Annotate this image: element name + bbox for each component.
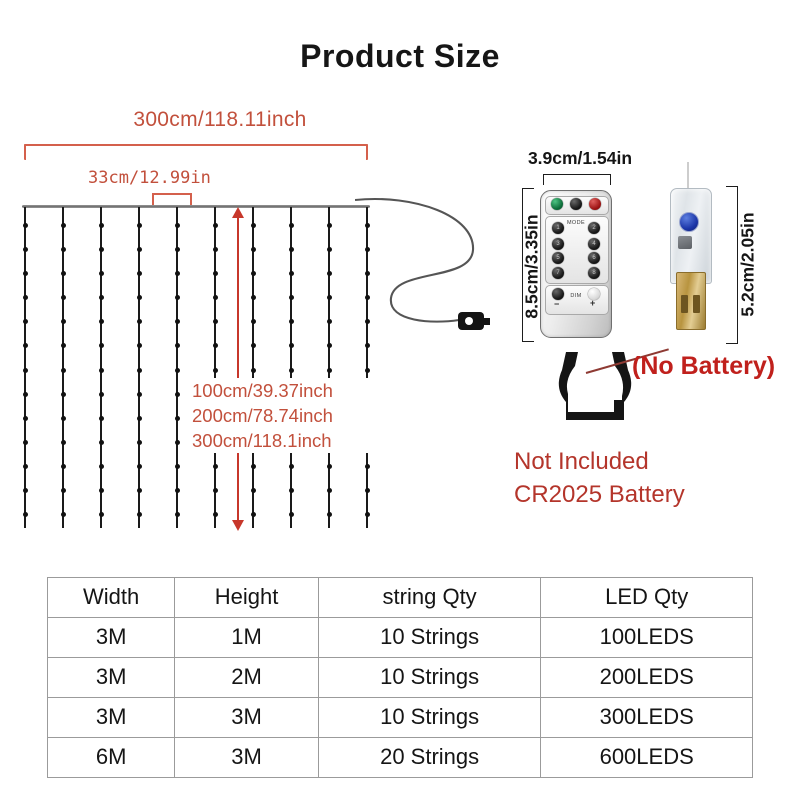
table-cell-width: 3M (48, 698, 175, 738)
led-dot (327, 512, 332, 517)
remote-minus-label: − (554, 299, 559, 309)
remote-on-button[interactable] (551, 198, 563, 210)
curtain-height-label-3: 300cm/118.1inch (192, 428, 402, 453)
led-dot (251, 368, 256, 373)
arrow-head-down-icon (232, 520, 244, 531)
led-dot (175, 464, 180, 469)
led-dot (289, 295, 294, 300)
led-dot (99, 440, 104, 445)
table-cell-width: 3M (48, 618, 175, 658)
table-cell-led-qty: 100LEDS (541, 618, 753, 658)
not-included-line-1: Not Included (514, 445, 685, 478)
led-dot (23, 247, 28, 252)
led-dot (23, 343, 28, 348)
led-dot (327, 488, 332, 493)
remote-width-bracket (543, 174, 611, 185)
table-cell-height: 3M (175, 738, 319, 778)
usb-plug (676, 272, 706, 330)
led-dot (137, 247, 142, 252)
led-dot (137, 295, 142, 300)
led-dot (137, 512, 142, 517)
usb-height-label: 5.2cm/2.05in (738, 185, 759, 345)
led-dot (213, 247, 218, 252)
table-cell-string-qty: 10 Strings (318, 658, 540, 698)
curtain-spacing-label: 33cm/12.99in (88, 168, 211, 188)
led-dot (175, 223, 180, 228)
table-cell-string-qty: 20 Strings (318, 738, 540, 778)
led-dot (327, 295, 332, 300)
led-dot (137, 271, 142, 276)
usb-wire (687, 162, 689, 188)
led-dot (61, 440, 66, 445)
curtain-top-wire (22, 205, 370, 208)
led-dot (175, 488, 180, 493)
table-row: 3M2M10 Strings200LEDS (48, 658, 753, 698)
table-row: 6M3M20 Strings600LEDS (48, 738, 753, 778)
led-dot (23, 512, 28, 517)
led-dot (289, 512, 294, 517)
led-dot (327, 368, 332, 373)
led-dot (23, 440, 28, 445)
led-dot (175, 368, 180, 373)
usb-connector (668, 186, 712, 336)
curtain-height-arrow (237, 208, 240, 530)
led-dot (327, 319, 332, 324)
led-dot (61, 512, 66, 517)
led-dot (289, 271, 294, 276)
led-dot (99, 488, 104, 493)
led-dot (61, 464, 66, 469)
table-cell-led-qty: 200LEDS (541, 658, 753, 698)
table-header-height: Height (175, 578, 319, 618)
table-header-string-qty: string Qty (318, 578, 540, 618)
led-dot (175, 271, 180, 276)
led-dot (23, 295, 28, 300)
curtain-height-label-1: 100cm/39.37inch (192, 378, 402, 403)
led-dot (289, 319, 294, 324)
led-dot (137, 392, 142, 397)
table-body: 3M1M10 Strings100LEDS3M2M10 Strings200LE… (48, 618, 753, 778)
led-dot (99, 319, 104, 324)
table-cell-width: 6M (48, 738, 175, 778)
led-dot (289, 343, 294, 348)
led-dot (175, 392, 180, 397)
led-dot (23, 368, 28, 373)
led-dot (61, 223, 66, 228)
remote-button-8-label: 8 (588, 267, 600, 279)
led-dot (61, 392, 66, 397)
remote-width-label: 3.9cm/1.54in (505, 148, 655, 169)
led-dot (251, 464, 256, 469)
led-dot (213, 271, 218, 276)
product-size-infographic: Product Size 300cm/118.11inch 33cm/12.99… (0, 0, 800, 800)
led-dot (289, 368, 294, 373)
remote-control[interactable]: MODE 1 2 3 4 5 6 7 8 DIM − + (540, 190, 612, 338)
led-dot (61, 416, 66, 421)
led-dot (365, 512, 370, 517)
led-dot (137, 223, 142, 228)
table-header-led-qty: LED Qty (541, 578, 753, 618)
led-dot (251, 319, 256, 324)
remote-button-3-label: 3 (552, 238, 564, 250)
led-dot (251, 223, 256, 228)
led-dot (137, 319, 142, 324)
led-dot (99, 368, 104, 373)
led-dot (327, 464, 332, 469)
remote-button-5-label: 5 (552, 252, 564, 264)
connector-tail (481, 318, 490, 325)
led-dot (23, 223, 28, 228)
led-dot (289, 464, 294, 469)
table-cell-height: 1M (175, 618, 319, 658)
led-dot (251, 271, 256, 276)
table-cell-led-qty: 300LEDS (541, 698, 753, 738)
usb-button-icon[interactable] (679, 212, 699, 232)
remote-button-2-label: 2 (588, 222, 600, 234)
led-dot (213, 464, 218, 469)
usb-height-bracket (726, 186, 738, 344)
led-dot (175, 319, 180, 324)
table-cell-width: 3M (48, 658, 175, 698)
table-cell-string-qty: 10 Strings (318, 698, 540, 738)
led-dot (99, 464, 104, 469)
led-dot (137, 440, 142, 445)
led-dot (175, 343, 180, 348)
battery-not-included-text: Not Included CR2025 Battery (514, 445, 685, 511)
led-dot (99, 512, 104, 517)
curtain-height-label-2: 200cm/78.74inch (192, 403, 402, 428)
led-dot (251, 247, 256, 252)
led-dot (61, 271, 66, 276)
led-dot (365, 488, 370, 493)
led-dot (175, 440, 180, 445)
not-included-line-2: CR2025 Battery (514, 478, 685, 511)
led-dot (99, 392, 104, 397)
led-dot (213, 368, 218, 373)
led-dot (61, 319, 66, 324)
remote-button-6-label: 6 (588, 252, 600, 264)
led-dot (175, 295, 180, 300)
led-dot (61, 368, 66, 373)
led-dot (99, 295, 104, 300)
led-dot (289, 488, 294, 493)
remote-plus-label: + (590, 298, 595, 308)
usb-chip (678, 236, 692, 249)
table-header-row: Width Height string Qty LED Qty (48, 578, 753, 618)
led-dot (175, 416, 180, 421)
led-dot (175, 512, 180, 517)
table-cell-height: 2M (175, 658, 319, 698)
remote-button-4-label: 4 (588, 238, 600, 250)
led-dot (23, 416, 28, 421)
led-dot (61, 295, 66, 300)
led-dot (23, 319, 28, 324)
led-dot (327, 343, 332, 348)
led-dot (137, 368, 142, 373)
led-dot (61, 247, 66, 252)
led-dot (213, 512, 218, 517)
led-dot (327, 247, 332, 252)
remote-button-7-label: 7 (552, 267, 564, 279)
table-row: 3M1M10 Strings100LEDS (48, 618, 753, 658)
remote-off-button[interactable] (589, 198, 601, 210)
led-dot (213, 223, 218, 228)
led-dot (99, 223, 104, 228)
led-dot (99, 416, 104, 421)
led-dot (213, 319, 218, 324)
table-cell-height: 3M (175, 698, 319, 738)
led-dot (175, 247, 180, 252)
led-dot (365, 464, 370, 469)
led-dot (23, 488, 28, 493)
table-header-width: Width (48, 578, 175, 618)
spec-table-wrapper: Width Height string Qty LED Qty 3M1M10 S… (47, 577, 753, 778)
led-dot (137, 343, 142, 348)
led-dot (251, 295, 256, 300)
led-dot (327, 271, 332, 276)
led-dot (61, 343, 66, 348)
led-dot (99, 247, 104, 252)
curtain-light-diagram (22, 205, 370, 530)
table-cell-string-qty: 10 Strings (318, 618, 540, 658)
curtain-width-bracket (24, 144, 368, 160)
led-dot (251, 488, 256, 493)
curtain-height-labels: 100cm/39.37inch 200cm/78.74inch 300cm/11… (192, 378, 402, 453)
no-battery-label: (No Battery) (632, 352, 775, 381)
led-dot (137, 416, 142, 421)
led-dot (327, 223, 332, 228)
led-dot (365, 368, 370, 373)
led-dot (289, 223, 294, 228)
remote-button-1-label: 1 (552, 222, 564, 234)
led-dot (213, 343, 218, 348)
spec-table: Width Height string Qty LED Qty 3M1M10 S… (47, 577, 753, 778)
led-dot (289, 247, 294, 252)
led-dot (251, 343, 256, 348)
led-dot (99, 271, 104, 276)
led-dot (137, 464, 142, 469)
led-dot (99, 343, 104, 348)
led-dot (137, 488, 142, 493)
led-dot (251, 512, 256, 517)
led-dot (213, 295, 218, 300)
led-dot (61, 488, 66, 493)
curtain-width-label: 300cm/118.11inch (70, 108, 370, 132)
table-row: 3M3M10 Strings300LEDS (48, 698, 753, 738)
led-dot (23, 464, 28, 469)
led-dot (23, 392, 28, 397)
led-dot (23, 271, 28, 276)
led-dot (213, 488, 218, 493)
page-title: Product Size (0, 38, 800, 75)
table-cell-led-qty: 600LEDS (541, 738, 753, 778)
remote-timer-button[interactable] (570, 198, 582, 210)
